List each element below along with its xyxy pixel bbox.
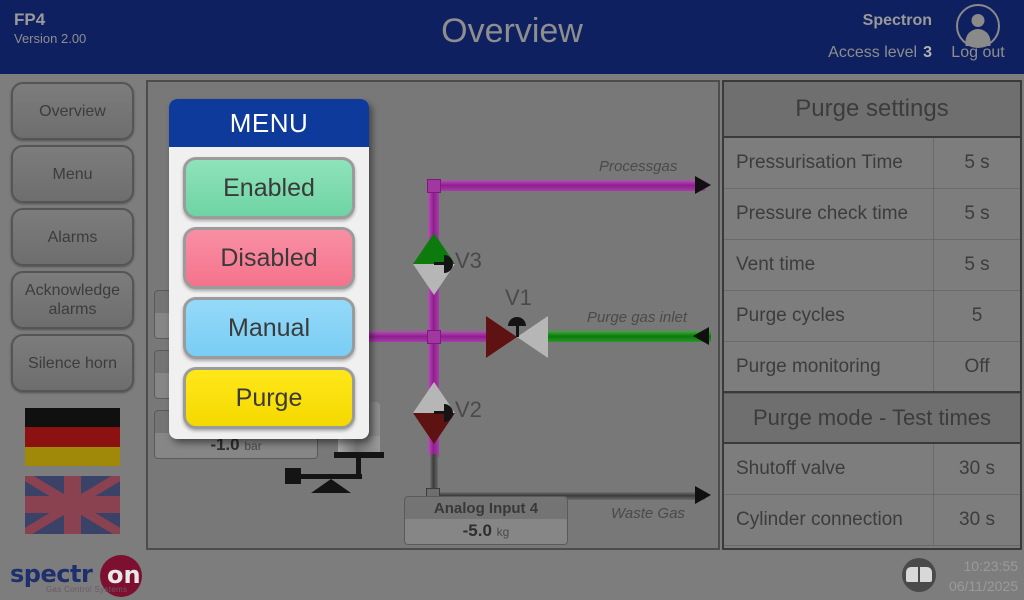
sidebar-item-menu[interactable]: Menu — [11, 145, 134, 203]
pipe-purge-gas — [548, 331, 711, 342]
row-label: Purge cycles — [724, 291, 934, 341]
user-name: Spectron — [863, 12, 932, 30]
valve-v2-label: V2 — [455, 397, 482, 423]
analog-input-3-unit: bar — [244, 439, 261, 453]
row-label: Vent time — [724, 240, 934, 290]
pipe-processgas-top — [428, 180, 705, 191]
valve-v2[interactable] — [413, 382, 455, 444]
row-value: 30 s — [934, 495, 1020, 545]
access-level-label: Access level — [828, 44, 917, 61]
valve-v3[interactable] — [413, 233, 455, 295]
menu-dialog: MENU Enabled Disabled Manual Purge — [169, 99, 369, 439]
clock-date: 06/11/2025 — [949, 576, 1018, 596]
logo-tagline: Gas Control Systems — [46, 585, 127, 594]
table-row[interactable]: Pressure check time 5 s — [724, 189, 1020, 240]
analog-input-4-value: -5.0 kg — [405, 519, 567, 544]
flag-stripe-black — [25, 408, 120, 427]
scale-weight-block — [285, 468, 301, 484]
row-label: Pressurisation Time — [724, 138, 934, 188]
row-label: Cylinder connection — [724, 495, 934, 545]
purge-settings-panel: Purge settings Pressurisation Time 5 s P… — [722, 80, 1022, 550]
book-spine — [918, 567, 920, 582]
valve-v1-label: V1 — [505, 285, 532, 311]
sidebar-item-acknowledge-alarms[interactable]: Acknowledge alarms — [11, 271, 134, 329]
book-icon[interactable] — [902, 558, 936, 592]
arrow-waste-gas — [695, 486, 711, 504]
row-label: Shutoff valve — [724, 444, 934, 494]
avatar-body — [966, 29, 991, 46]
flag-horizontal-bar — [25, 496, 120, 513]
row-value: 5 s — [934, 189, 1020, 239]
sidebar-item-silence-horn[interactable]: Silence horn — [11, 334, 134, 392]
german-flag-icon[interactable] — [25, 408, 120, 466]
book-page-right — [920, 567, 932, 582]
menu-option-purge[interactable]: Purge — [183, 367, 355, 429]
purge-mode-test-times-title: Purge mode - Test times — [724, 393, 1020, 444]
uk-flag-icon[interactable] — [25, 476, 120, 534]
logo-text: spectr — [10, 560, 92, 588]
row-value: 30 s — [934, 444, 1020, 494]
label-waste-gas: Waste Gas — [611, 505, 685, 522]
flag-stripe-gold — [25, 447, 120, 466]
menu-dialog-body: Enabled Disabled Manual Purge — [169, 147, 369, 439]
label-processgas: Processgas — [599, 158, 677, 175]
access-level-value: 3 — [923, 44, 932, 61]
app-header: FP4 Version 2.00 Overview Spectron Acces… — [0, 0, 1024, 74]
scale-pivot — [311, 479, 351, 493]
valve-v1[interactable] — [486, 316, 548, 358]
table-row[interactable]: Cylinder connection 30 s — [724, 495, 1020, 546]
table-row[interactable]: Vent time 5 s — [724, 240, 1020, 291]
pipe-node-top — [427, 179, 441, 193]
access-level: Access level3 — [828, 44, 932, 62]
table-row[interactable]: Purge cycles 5 — [724, 291, 1020, 342]
menu-option-disabled[interactable]: Disabled — [183, 227, 355, 289]
menu-option-enabled[interactable]: Enabled — [183, 157, 355, 219]
arrow-purge-gas-inlet — [693, 327, 709, 345]
flag-stripe-red — [25, 427, 120, 446]
row-label: Pressure check time — [724, 189, 934, 239]
clock: 10:23:55 06/11/2025 — [949, 556, 1018, 596]
table-row[interactable]: Purge monitoring Off — [724, 342, 1020, 393]
arrow-processgas — [695, 176, 711, 194]
user-avatar-icon[interactable] — [956, 4, 1000, 48]
avatar-head — [972, 14, 985, 27]
analog-input-4-unit: kg — [497, 525, 510, 539]
row-value: 5 — [934, 291, 1020, 341]
row-value: 5 s — [934, 240, 1020, 290]
sidebar: Overview Menu Alarms Acknowledge alarms … — [0, 74, 145, 548]
clock-time: 10:23:55 — [949, 556, 1018, 576]
table-row[interactable]: Pressurisation Time 5 s — [724, 138, 1020, 189]
sidebar-item-overview[interactable]: Overview — [11, 82, 134, 140]
application-root: FP4 Version 2.00 Overview Spectron Acces… — [0, 0, 1024, 600]
row-value: Off — [934, 342, 1020, 391]
spectron-logo: spectr on Gas Control Systems — [8, 554, 158, 596]
menu-dialog-title: MENU — [169, 99, 369, 147]
row-value: 5 s — [934, 138, 1020, 188]
valve-v3-label: V3 — [455, 248, 482, 274]
pipe-node-mid — [427, 330, 441, 344]
row-label: Purge monitoring — [724, 342, 934, 391]
sidebar-item-alarms[interactable]: Alarms — [11, 208, 134, 266]
label-purge-gas-inlet: Purge gas inlet — [587, 309, 687, 326]
valve-v1-stem — [516, 325, 519, 337]
analog-input-4-title: Analog Input 4 — [405, 497, 567, 519]
purge-settings-title: Purge settings — [724, 82, 1020, 138]
menu-option-manual[interactable]: Manual — [183, 297, 355, 359]
app-footer: spectr on Gas Control Systems 10:23:55 0… — [0, 550, 1024, 600]
book-page-left — [906, 567, 918, 582]
analog-input-4[interactable]: Analog Input 4 -5.0 kg — [404, 496, 568, 545]
table-row[interactable]: Shutoff valve 30 s — [724, 444, 1020, 495]
